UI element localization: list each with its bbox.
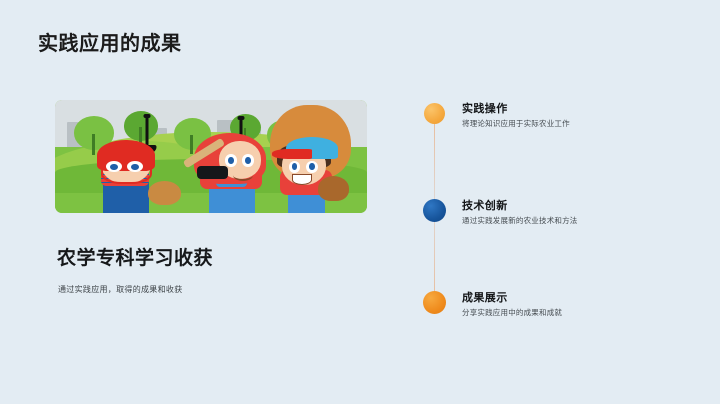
children-playing-baseball-illustration bbox=[55, 100, 367, 213]
timeline-item-description: 通过实践发展新的农业技术和方法 bbox=[462, 215, 578, 226]
slide-canvas: 实践应用的成果 bbox=[0, 0, 720, 404]
timeline-dot-icon bbox=[424, 103, 445, 124]
timeline: 实践操作 将理论知识应用于实际农业工作 技术创新 通过实践发展新的农业技术和方法… bbox=[420, 100, 690, 325]
left-subtitle: 通过实践应用，取得的成果和收获 bbox=[58, 284, 183, 295]
timeline-dot-icon bbox=[423, 199, 446, 222]
left-heading: 农学专科学习收获 bbox=[57, 243, 213, 270]
left-column bbox=[55, 100, 367, 213]
timeline-item-description: 将理论知识应用于实际农业工作 bbox=[462, 118, 570, 129]
timeline-item-label: 技术创新 bbox=[462, 197, 508, 213]
timeline-item-description: 分享实践应用中的成果和成就 bbox=[462, 307, 562, 318]
page-title: 实践应用的成果 bbox=[38, 27, 182, 56]
timeline-dot-icon bbox=[423, 291, 446, 314]
timeline-item-2[interactable]: 技术创新 通过实践发展新的农业技术和方法 bbox=[420, 197, 690, 237]
child-fielder-figure bbox=[270, 138, 342, 213]
timeline-item-3[interactable]: 成果展示 分享实践应用中的成果和成就 bbox=[420, 289, 690, 329]
child-catcher-figure bbox=[89, 143, 164, 213]
child-batter-figure bbox=[192, 132, 270, 213]
timeline-item-label: 成果展示 bbox=[462, 289, 508, 305]
timeline-item-1[interactable]: 实践操作 将理论知识应用于实际农业工作 bbox=[420, 100, 690, 140]
timeline-item-label: 实践操作 bbox=[462, 100, 508, 116]
tree-icon bbox=[124, 111, 158, 140]
